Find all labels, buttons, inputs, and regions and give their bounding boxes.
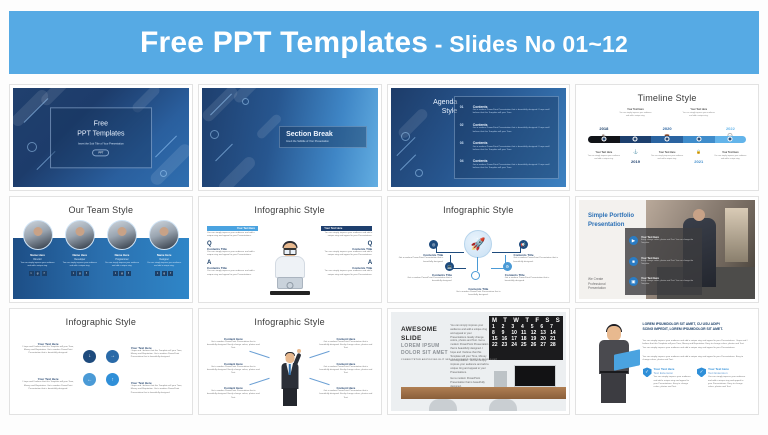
timeline-block-above: Your Text Here You can simply impress yo… <box>618 108 652 118</box>
timeline-marker <box>601 137 606 142</box>
member-desc: You can simply impress your audience and… <box>61 262 98 268</box>
timeline-year: 2018 <box>599 126 608 131</box>
man-with-laptop-illustration <box>588 326 634 409</box>
shield-icon: ✓ <box>643 367 652 377</box>
slide-5-canvas: Our Team Style Name Here Director You ca… <box>13 200 189 299</box>
portfolio-row: ▣ Your Text Here Easily change colors, p… <box>629 277 698 286</box>
timeline-heading: Your Text Here <box>713 151 747 154</box>
block-body: Get a modern PowerPoint Presentation tha… <box>320 366 373 376</box>
legs-shape <box>283 388 297 406</box>
monitor-icon: 💻 <box>445 262 454 271</box>
slide-1-title-line1: Free <box>94 119 108 129</box>
avatar <box>65 220 95 250</box>
spiral-text-bottom-right: Your Text Here I hope and I believe that… <box>131 381 184 395</box>
right-a-body: You can simply impress your audience and… <box>321 270 372 276</box>
slide-3-title: Agenda Style <box>405 98 458 116</box>
calendar-day: 24 <box>511 342 521 348</box>
briefcase-icon: ▣ <box>629 277 638 286</box>
calendar-day: 28 <box>550 342 560 348</box>
ppt-badge: PPT <box>92 149 109 156</box>
agenda-item: 02 Contents Get a modern PowerPoint Pres… <box>460 123 553 134</box>
deco-shape <box>148 142 189 187</box>
portfolio-row: ■ Your Text Here Easily change colors, p… <box>629 257 698 266</box>
slide-thumbnail-3[interactable]: Agenda Style 01 Contents Get a modern Po… <box>387 84 571 191</box>
google-plus-icon[interactable]: g <box>162 271 167 276</box>
slide-thumbnail-7[interactable]: Infographic Style 🚀 ◎ 📢 💻 ⚙ Contents Tit… <box>387 196 571 303</box>
chair-shape <box>429 399 457 411</box>
member-name: Name Here <box>146 253 183 257</box>
head-shape <box>607 326 621 341</box>
glasses-icon <box>283 248 296 252</box>
shield-icon: ✓ <box>697 367 706 377</box>
slide-1-canvas: Free PPT Templates Insert the Sub Title … <box>13 88 189 187</box>
avatar <box>149 220 179 250</box>
twitter-icon[interactable]: t <box>29 271 34 276</box>
video-icon: ▶ <box>629 236 638 245</box>
chair-shape <box>489 399 517 411</box>
slide-12-paragraph-2: You can simply impress your audience and… <box>643 356 748 363</box>
feature-body: You can simply impress your audience and… <box>708 376 746 389</box>
right-chip: Your Text Here <box>321 226 372 231</box>
agenda-heading: Contents <box>473 105 553 109</box>
slide-thumbnail-5[interactable]: Our Team Style Name Here Director You ca… <box>9 196 193 303</box>
member-desc: You can simply impress your audience and… <box>146 262 183 268</box>
right-q-body: You can simply impress your audience and… <box>321 251 372 257</box>
feature-subheading: Text Extension <box>654 371 692 375</box>
timeline-body: You can simply impress your audience and… <box>650 155 684 161</box>
left-arrow-icon: ← <box>83 373 96 386</box>
social-links: t g f <box>103 271 140 276</box>
window-shape <box>725 208 749 262</box>
banner-title: Free PPT Templates - Slides No 01~12 <box>140 26 628 60</box>
agenda-number: 01 <box>460 105 469 109</box>
node-body: Get a modern PowerPoint Presentation tha… <box>406 277 452 283</box>
calendar-day: 26 <box>531 342 541 348</box>
agenda-body: Get a modern PowerPoint Presentation tha… <box>473 164 553 171</box>
slide-4-title: Timeline Style <box>579 88 755 103</box>
slide-4-canvas: Timeline Style Your Text Here You can si… <box>579 88 755 187</box>
deco-line <box>215 144 233 162</box>
timeline-year: 2021 <box>694 159 703 164</box>
slide-8-canvas: Simple Portfolio Presentation We Create … <box>579 200 755 299</box>
connector-line <box>477 257 478 271</box>
slide-7-canvas: Infographic Style 🚀 ◎ 📢 💻 ⚙ Contents Tit… <box>391 200 567 299</box>
block-body: Get a modern PowerPoint Presentation tha… <box>207 366 260 376</box>
left-chip: Your Text Here <box>207 226 258 231</box>
facebook-icon[interactable]: f <box>84 271 89 276</box>
block-body: I hope and I believe that this Template … <box>20 346 76 356</box>
portfolio-row: ▶ Your Text Here Easily change colors, p… <box>629 236 698 245</box>
slide-8-footer: We Create Professional Presentation <box>588 277 606 291</box>
twitter-icon[interactable]: t <box>113 271 118 276</box>
slide-5-title: Our Team Style <box>13 200 189 215</box>
timeline-heading: Your Text Here <box>650 151 684 154</box>
slide-2-canvas: Section Break Insert the Subtitle of You… <box>202 88 378 187</box>
connector-line <box>309 378 329 385</box>
agenda-number: 02 <box>460 123 469 127</box>
slide-11-body2: Get a modern PowerPoint Presentation tha… <box>450 377 489 389</box>
connector-line <box>250 350 270 357</box>
portfolio-overlay-panel: ▶ Your Text Here Easily change colors, p… <box>625 228 702 295</box>
slide-2-subtitle: Insert the Subtitle of Your Presentation <box>286 140 360 143</box>
info-block: Content Here Get a modern PowerPoint Pre… <box>320 337 373 351</box>
slide-10-title: Infographic Style <box>202 312 378 327</box>
row-body: Easily change colors, photos and Text. Y… <box>641 260 698 266</box>
member-name: Name Here <box>19 253 56 257</box>
left-a-body: You can simply impress your audience and… <box>207 270 258 276</box>
agenda-heading: Contents <box>473 141 553 145</box>
timeline-marker <box>696 137 701 142</box>
trousers-shape <box>601 373 626 403</box>
footer-line3: Presentation <box>588 286 606 291</box>
node-body: Get a modern PowerPoint Presentation tha… <box>456 291 502 297</box>
laptop-shape <box>277 277 303 289</box>
businessman-illustration <box>278 345 302 407</box>
image-icon: ■ <box>629 257 638 266</box>
timeline-heading: Your Text Here <box>682 108 716 111</box>
slide-10-canvas: Infographic Style Content Here Get a mod… <box>202 312 378 411</box>
connector-line <box>250 378 270 385</box>
google-plus-icon[interactable]: g <box>35 271 40 276</box>
slide-11-body-column: You can simply impress your audience and… <box>450 324 489 389</box>
right-arrow-icon: → <box>106 350 119 363</box>
info-block: Content Here Get a modern PowerPoint Pre… <box>207 337 260 351</box>
slide-grid: Free PPT Templates Insert the Sub Title … <box>9 84 759 415</box>
slide-12-paragraph-1: You can simply impress your audience and… <box>643 340 748 350</box>
calendar-day: 23 <box>502 342 512 348</box>
slide-12-heading: LOREM IPSUMDOLOR SIT AMET, CU USU ADIPI … <box>643 322 748 332</box>
node-body: Get a modern PowerPoint Presentation tha… <box>514 257 560 263</box>
slide-6-right-column: Your Text Here You can simply impress yo… <box>321 226 372 277</box>
calendar-day: 27 <box>540 342 550 348</box>
slide-12-feature-2: ✓ Your Text Here Text Extension You can … <box>697 367 746 389</box>
slide-thumbnail-4[interactable]: Timeline Style Your Text Here You can si… <box>575 84 759 191</box>
block-body: Get a modern PowerPoint Presentation tha… <box>320 390 373 400</box>
slide-12-canvas: LOREM IPSUMDOLOR SIT AMET, CU USU ADIPI … <box>579 312 755 411</box>
deco-ring <box>242 98 249 105</box>
banner-title-sub: - Slides No 01~12 <box>428 31 628 57</box>
deco-shape <box>231 88 266 105</box>
left-q-body: You can simply impress your audience and… <box>207 251 258 257</box>
connector-line <box>492 244 520 254</box>
facebook-icon[interactable]: f <box>168 271 173 276</box>
row-body: Easily change colors, photos and Text. Y… <box>641 280 698 286</box>
wall-calendar: M T W T F S S 1 2 3 4 5 6 <box>489 316 563 360</box>
rocket-icon: 🚀 <box>464 230 492 258</box>
team-member: Name Here Developer You can simply impre… <box>61 220 98 276</box>
team-member: Name Here Director You can simply impres… <box>19 220 56 276</box>
timeline-marker <box>728 137 733 142</box>
node-text-right-1: Contents Title Get a modern PowerPoint P… <box>514 253 560 263</box>
block-body: I hope and I believe that this Template … <box>131 350 184 360</box>
google-plus-icon[interactable]: g <box>77 271 82 276</box>
agenda-body: Get a modern PowerPoint Presentation tha… <box>473 127 553 134</box>
slide-thumbnail-9[interactable]: Infographic Style ↓ → ← ↑ Your Text Here… <box>9 308 193 415</box>
block-body: Get a modern PowerPoint Presentation tha… <box>207 341 260 351</box>
agenda-item: 04 Contents Get a modern PowerPoint Pres… <box>460 159 553 170</box>
member-name: Name Here <box>103 253 140 257</box>
slide-6-left-column: Your Text Here You can simply impress yo… <box>207 226 258 277</box>
block-body: I hope and I believe that this Template … <box>20 381 76 391</box>
monitor-shape <box>514 365 556 387</box>
slide-11-canvas: M T W T F S S 1 2 3 4 5 6 <box>391 312 567 411</box>
slide-3-canvas: Agenda Style 01 Contents Get a modern Po… <box>391 88 567 187</box>
lock-icon: 🔒 <box>696 149 701 154</box>
social-links: t g f <box>61 271 98 276</box>
deco-shape <box>216 154 257 187</box>
slide-9-title: Infographic Style <box>13 312 189 327</box>
slide-3-title-line2: Style <box>405 107 458 116</box>
desk-shape <box>270 291 310 295</box>
tie-shape <box>288 364 291 375</box>
down-arrow-icon: ↓ <box>83 350 96 363</box>
deco-ring <box>401 132 410 141</box>
slide-6-title: Infographic Style <box>202 200 378 215</box>
timeline-body: You can simply impress your audience and… <box>618 112 652 118</box>
agenda-heading: Contents <box>473 159 553 163</box>
timeline-year: 2022 <box>726 126 735 131</box>
timeline-year: 2020 <box>663 126 672 131</box>
banner-title-main: Free PPT Templates <box>140 26 428 59</box>
member-role: Programmer <box>103 258 140 261</box>
circle-icon <box>471 271 480 280</box>
left-chip-body: You can simply impress your audience and… <box>207 232 258 238</box>
info-block: Content Here Get a modern PowerPoint Pre… <box>207 362 260 376</box>
twitter-icon[interactable]: t <box>155 271 160 276</box>
agenda-number: 03 <box>460 141 469 145</box>
social-links: t g f <box>146 271 183 276</box>
slide-thumbnail-1[interactable]: Free PPT Templates Insert the Sub Title … <box>9 84 193 191</box>
slide-thumbnail-6[interactable]: Infographic Style Your Text Here You can… <box>198 196 382 303</box>
node-body: Get a modern PowerPoint Presentation tha… <box>398 257 444 263</box>
timeline-year: 2019 <box>631 159 640 164</box>
connector-line <box>436 244 464 254</box>
spiral-text-bottom-left: Your Text Here I hope and I believe that… <box>20 377 76 391</box>
slide-2-title-box: Section Break Insert the Subtitle of You… <box>279 126 367 148</box>
agenda-item: 01 Contents Get a modern PowerPoint Pres… <box>460 105 553 116</box>
member-desc: You can simply impress your audience and… <box>103 262 140 268</box>
block-body: Get a modern PowerPoint Presentation tha… <box>320 341 373 351</box>
info-block: Content Here Get a modern PowerPoint Pre… <box>320 362 373 376</box>
avatar <box>23 220 53 250</box>
timeline-block-above: Your Text Here You can simply impress yo… <box>682 108 716 118</box>
node-text-left-1: Contents Title Get a modern PowerPoint P… <box>398 253 444 263</box>
facebook-icon[interactable]: f <box>42 271 47 276</box>
facebook-icon[interactable]: f <box>126 271 131 276</box>
timeline-marker <box>633 137 638 142</box>
team-member: Name Here Designer You can simply impres… <box>146 220 183 276</box>
twitter-icon[interactable]: t <box>71 271 76 276</box>
deco-ring <box>160 170 167 177</box>
slide-thumbnail-10[interactable]: Infographic Style Content Here Get a mod… <box>198 308 382 415</box>
connector-line <box>309 350 329 357</box>
team-list: Name Here Director You can simply impres… <box>17 220 186 276</box>
slide-1-title-line2: PPT Templates <box>77 129 124 139</box>
info-block: Content Here Get a modern PowerPoint Pre… <box>207 386 260 400</box>
slide-3-contents-panel: 01 Contents Get a modern PowerPoint Pres… <box>454 96 559 179</box>
slide-1-subtitle: Insert the Sub Title of Your Presentatio… <box>78 142 124 146</box>
slide-9-canvas: Infographic Style ↓ → ← ↑ Your Text Here… <box>13 312 189 411</box>
head-shape <box>285 353 294 363</box>
timeline-bar-wrap <box>588 136 746 143</box>
page-root: Free PPT Templates - Slides No 01~12 Fre… <box>0 0 768 435</box>
torso-shape <box>275 256 305 278</box>
deco-ring <box>415 169 423 177</box>
node-body: Get a modern PowerPoint Presentation tha… <box>505 277 551 283</box>
info-block: Content Here Get a modern PowerPoint Pre… <box>320 386 373 400</box>
deco-ring <box>27 142 37 152</box>
member-role: Designer <box>146 258 183 261</box>
timeline-body: You can simply impress your audience and… <box>682 112 716 118</box>
slide-8-title: Simple Portfolio Presentation <box>588 212 634 229</box>
deco-ring <box>210 130 219 139</box>
node-text-left-2: Contents Title Get a modern PowerPoint P… <box>406 273 452 283</box>
slide-thumbnail-11[interactable]: M T W T F S S 1 2 3 4 5 6 <box>387 308 571 415</box>
plant-shape <box>494 371 506 387</box>
agenda-number: 04 <box>460 159 469 163</box>
slide-12-feature-1: ✓ Your Text Here Text Extension You can … <box>643 367 692 389</box>
block-body: Get a modern PowerPoint Presentation tha… <box>207 390 260 400</box>
node-text-bottom: Contents Title Get a modern PowerPoint P… <box>456 287 502 297</box>
agenda-body: Get a modern PowerPoint Presentation tha… <box>473 146 553 153</box>
slide-2-title: Section Break <box>286 131 360 138</box>
timeline-body: You can simply impress your audience and… <box>713 155 747 161</box>
spiral-text-top-right: Your Text Here I hope and I believe that… <box>131 346 184 360</box>
member-name: Name Here <box>61 253 98 257</box>
heading-line2: SCING IMPEDIT, LOREM IPSUMDOLOR SIT AMET… <box>643 327 748 332</box>
target-icon: ◎ <box>429 240 438 249</box>
anchor-icon: ⚓ <box>633 149 638 154</box>
slide-thumbnail-8[interactable]: Simple Portfolio Presentation We Create … <box>575 196 759 303</box>
timeline-body: You can simply impress your audience and… <box>587 155 621 161</box>
megaphone-icon: 📢 <box>519 240 528 249</box>
calendar-number-grid: 1 2 3 4 5 6 7 8 9 10 11 12 13 14 <box>492 324 560 348</box>
member-role: Director <box>19 258 56 261</box>
right-chip-body: You can simply impress your audience and… <box>321 232 372 238</box>
spiral-text-top-left: Your Text Here I hope and I believe that… <box>20 342 76 356</box>
google-plus-icon[interactable]: g <box>119 271 124 276</box>
member-role: Developer <box>61 258 98 261</box>
slide-7-title: Infographic Style <box>391 200 567 215</box>
timeline-heading: Your Text Here <box>618 108 652 111</box>
up-arrow-icon: ↑ <box>106 373 119 386</box>
slide-11-body: You can simply impress your audience and… <box>450 324 489 375</box>
member-desc: You can simply impress your audience and… <box>19 262 56 268</box>
hand-shape <box>297 349 301 353</box>
feature-subheading: Text Extension <box>708 371 746 375</box>
slide-3-title-line1: Agenda <box>405 98 458 107</box>
block-body: I hope and I believe that this Template … <box>131 385 184 395</box>
slide-6-canvas: Infographic Style Your Text Here You can… <box>202 200 378 299</box>
feature-body: You can simply impress your audience and… <box>654 376 692 389</box>
node-text-right-2: Contents Title Get a modern PowerPoint P… <box>505 273 551 283</box>
slide-1-title-box: Free PPT Templates Insert the Sub Title … <box>50 107 152 168</box>
slide-thumbnail-2[interactable]: Section Break Insert the Subtitle of You… <box>198 84 382 191</box>
avatar <box>107 220 137 250</box>
slide-8-title-line1: Simple Portfolio <box>588 212 634 221</box>
agenda-item: 03 Contents Get a modern PowerPoint Pres… <box>460 141 553 152</box>
timeline-block-below: Your Text Here You can simply impress yo… <box>713 151 747 161</box>
page-banner: Free PPT Templates - Slides No 01~12 <box>9 11 759 74</box>
team-member: Name Here Programmer You can simply impr… <box>103 220 140 276</box>
row-body: Easily change colors, photos and Text. Y… <box>641 239 698 245</box>
gear-icon: ⚙ <box>503 262 512 271</box>
slide-thumbnail-12[interactable]: LOREM IPSUMDOLOR SIT AMET, CU USU ADIPI … <box>575 308 759 415</box>
calendar-day: 25 <box>521 342 531 348</box>
person-with-laptop-illustration <box>270 239 310 297</box>
timeline-marker <box>665 137 670 142</box>
timeline-heading: Your Text Here <box>587 151 621 154</box>
timeline-block-below: Your Text Here You can simply impress yo… <box>587 151 621 161</box>
social-links: t g f <box>19 271 56 276</box>
deco-line <box>399 154 415 170</box>
agenda-body: Get a modern PowerPoint Presentation tha… <box>473 109 553 116</box>
timeline-block-below: Your Text Here You can simply impress yo… <box>650 151 684 161</box>
